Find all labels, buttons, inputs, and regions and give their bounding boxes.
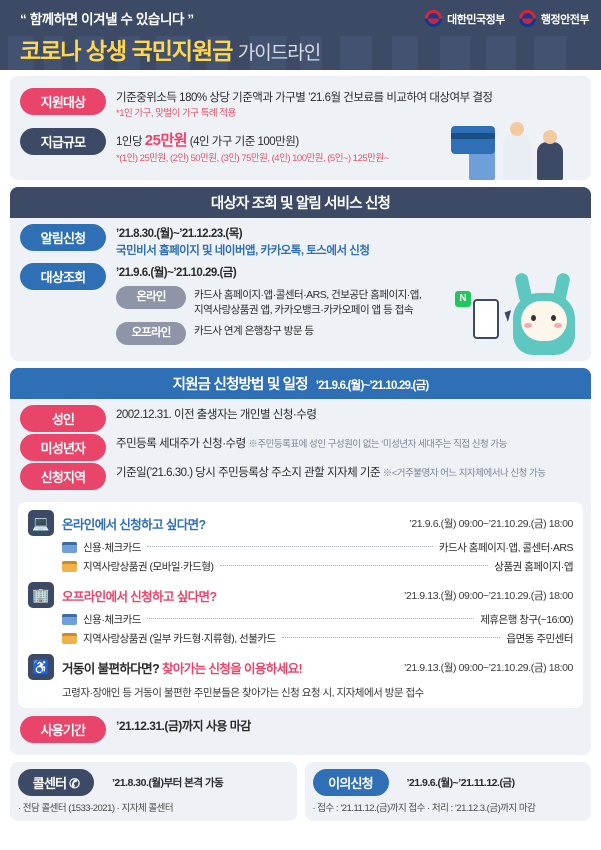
row-target-lookup: 대상조회 ’21.9.6.(월)~’21.10.29.(금) 온라인 카드사 홈… <box>10 261 591 351</box>
online-card-value: 카드사 홈페이지·앱, 콜센터·ARS <box>439 540 573 555</box>
section3-band-title: 지원금 신청방법 및 일정’21.9.6.(월)~’21.10.29.(금) <box>10 368 591 399</box>
page-title-main: 코로나 상생 국민지원금 <box>20 38 232 64</box>
poster-page: “ 함께하면 이겨낼 수 있습니다 ” 코로나 상생 국민지원금 가이드라인 대… <box>0 0 601 850</box>
tag-callcenter: 콜센터 ✆ <box>18 769 94 796</box>
section2-band-title: 대상자 조회 및 알림 서비스 신청 <box>10 187 591 218</box>
naver-icon: N <box>455 291 471 307</box>
row-minor: 미성년자 주민등록 세대주가 신청·수령 ※주민등록표에 성인 구성원이 없는 … <box>10 433 591 462</box>
offline-card-label: 신용·체크카드 <box>83 612 141 627</box>
method-offline-date: ’21.9.13.(월) 09:00~’21.10.29.(금) 18:00 <box>404 588 573 603</box>
offline-line-card: 신용·체크카드 제휴은행 창구(~16:00) <box>28 610 573 629</box>
footer-callcenter: 콜센터 ✆ ’21.8.30.(월)부터 본격 가동 · 전담 콜센터 (153… <box>10 762 297 821</box>
section-apply-method: 지원금 신청방법 및 일정’21.9.6.(월)~’21.10.29.(금) 성… <box>10 368 591 755</box>
dot-leader-4 <box>282 637 501 638</box>
poster-footer: 콜센터 ✆ ’21.8.30.(월)부터 본격 가동 · 전담 콜센터 (153… <box>0 762 601 829</box>
dot-leader <box>147 546 433 547</box>
tag-online: 온라인 <box>116 286 186 309</box>
online-card-label: 신용·체크카드 <box>83 540 141 555</box>
tag-objection: 이의신청 <box>313 769 389 796</box>
method-offline-header: 🏢 오프라인에서 신청하고 싶다면? ’21.9.13.(월) 09:00~’2… <box>28 582 573 608</box>
online-text: 카드사 홈페이지·앱·콜센터·ARS, 건보공단 홈페이지·앱, 지역사랑상품권… <box>194 286 421 318</box>
adult-text: 2002.12.31. 이전 출생자는 개인별 신청·수령 <box>116 405 581 424</box>
callcenter-head: 콜센터 ✆ ’21.8.30.(월)부터 본격 가동 <box>18 769 289 796</box>
methods-card: 💻 온라인에서 신청하고 싶다면? ’21.9.6.(월) 09:00~’21.… <box>18 502 583 708</box>
callcenter-date: ’21.8.30.(월)부터 본격 가동 <box>112 775 223 790</box>
section-lookup-notify: 대상자 조회 및 알림 서비스 신청 알림신청 ’21.8.30.(월)~’21… <box>10 187 591 361</box>
online-line-card: 신용·체크카드 카드사 홈페이지·앱, 콜센터·ARS <box>28 538 573 557</box>
row-region: 신청지역 기준일(’21.6.30.) 당시 주민등록상 주소지 관할 지자체 … <box>10 462 591 496</box>
page-title: 코로나 상생 국민지원금 가이드라인 <box>14 32 587 66</box>
method-visit-title-pre: 거동이 불편하다면? <box>62 662 162 676</box>
payment-amount: 25만원 <box>145 132 187 149</box>
region-note: ※<거주불명자 어느 지자체에서나 신청 가능 <box>383 468 546 479</box>
section3-band-label: 지원금 신청방법 및 일정 <box>173 377 308 393</box>
method-visit-date: ’21.9.13.(월) 09:00~’21.10.29.(금) 18:00 <box>404 660 573 675</box>
taegeuk-icon <box>425 10 442 27</box>
page-title-sub: 가이드라인 <box>238 43 320 64</box>
tag-offline: 오프라인 <box>116 322 186 345</box>
offline-card-value: 제휴은행 창구(~16:00) <box>480 612 573 627</box>
tag-adult: 성인 <box>20 405 106 432</box>
logo-label-1: 대한민국정부 <box>447 11 505 27</box>
card-icon-2 <box>62 614 77 625</box>
dot-leader-3 <box>147 618 474 619</box>
minor-note: ※주민등록표에 성인 구성원이 없는 ‘미성년자 세대주는 직접 신청 가능 <box>248 439 506 450</box>
poster-header: “ 함께하면 이겨낼 수 있습니다 ” 코로나 상생 국민지원금 가이드라인 대… <box>0 0 601 70</box>
offline-voucher-value: 읍면동 주민센터 <box>506 631 573 646</box>
method-visit-desc: 고령자·장애인 등 거동이 불편한 주민분들은 찾아가는 신청 요청 시, 지자… <box>28 682 573 700</box>
method-online-header: 💻 온라인에서 신청하고 싶다면? ’21.9.6.(월) 09:00~’21.… <box>28 510 573 536</box>
row-adult: 성인 2002.12.31. 이전 출생자는 개인별 신청·수령 <box>10 399 591 433</box>
tag-notify-apply: 알림신청 <box>20 224 106 251</box>
payment-pre: 1인당 <box>116 136 145 148</box>
method-visit-title-main: 찾아가는 신청을 이용하세요! <box>162 662 302 676</box>
objection-head: 이의신청 ’21.9.6.(월)~’21.11.12.(금) <box>313 769 584 796</box>
tag-minor: 미성년자 <box>20 434 106 461</box>
method-visit-header: ♿ 거동이 불편하다면? 찾아가는 신청을 이용하세요! ’21.9.13.(월… <box>28 654 573 680</box>
minor-text: 주민등록 세대주가 신청·수령 <box>116 438 246 450</box>
logo-korean-government: 대한민국정부 <box>425 10 505 27</box>
phone-illustration <box>473 299 499 339</box>
card-illustration <box>451 126 495 154</box>
phone-icon: ✆ <box>69 776 79 791</box>
mascot-illustration <box>507 271 581 357</box>
method-visit-title: 거동이 불편하다면? 찾아가는 신청을 이용하세요! <box>62 658 302 677</box>
support-target-text: 기준중위소득 180% 상당 기준액과 가구별 ’21.6월 건보료를 비교하여… <box>116 90 581 107</box>
laptop-icon: 💻 <box>28 510 54 536</box>
dot-leader-2 <box>220 565 489 566</box>
usage-period-text: ’21.12.31.(금)까지 사용 마감 <box>116 716 581 735</box>
objection-date: ’21.9.6.(월)~’21.11.12.(금) <box>407 775 515 790</box>
support-target-body: 기준중위소득 180% 상당 기준액과 가구별 ’21.6월 건보료를 비교하여… <box>116 88 581 120</box>
tag-target-lookup: 대상조회 <box>20 263 106 290</box>
notify-apply-date: ’21.8.30.(월)~’21.12.23.(목) <box>116 226 581 243</box>
online-voucher-value: 상품권 홈페이지·앱 <box>494 559 573 574</box>
callcenter-detail: · 전담 콜센터 (1533-2021) · 지자체 콜센터 <box>18 800 289 814</box>
offline-line-voucher: 지역사랑상품권 (일부 카드형·지류형), 선불카드 읍면동 주민센터 <box>28 629 573 648</box>
region-body: 기준일(’21.6.30.) 당시 주민등록상 주소지 관할 지자체 기준 ※<… <box>116 463 581 482</box>
objection-detail: · 접수 : ’21.11.12.(금)까지 접수 · 처리 : ’21.12.… <box>313 800 584 814</box>
logo-label-2: 행정안전부 <box>541 11 589 27</box>
offline-text: 카드사 연계 은행창구 방문 등 <box>194 322 314 339</box>
tag-region: 신청지역 <box>20 463 106 490</box>
voucher-icon <box>62 561 77 572</box>
card-icon <box>62 542 77 553</box>
method-online-date: ’21.9.6.(월) 09:00~’21.10.29.(금) 18:00 <box>409 516 573 531</box>
footer-objection: 이의신청 ’21.9.6.(월)~’21.11.12.(금) · 접수 : ’2… <box>305 762 592 821</box>
region-text: 기준일(’21.6.30.) 당시 주민등록상 주소지 관할 지자체 기준 <box>116 467 380 479</box>
tag-payment-scale: 지급규모 <box>20 128 106 155</box>
notify-apply-body: ’21.8.30.(월)~’21.12.23.(목) 국민비서 홈페이지 및 네… <box>116 224 581 259</box>
row-notify-apply: 알림신청 ’21.8.30.(월)~’21.12.23.(목) 국민비서 홈페이… <box>10 218 591 261</box>
logo-mois: 행정안전부 <box>519 10 589 27</box>
notify-apply-text: 국민비서 홈페이지 및 네이버앱, 카카오톡, 토스에서 신청 <box>116 243 581 260</box>
offline-voucher-label: 지역사랑상품권 (일부 카드형·지류형), 선불카드 <box>83 631 276 646</box>
government-logos: 대한민국정부 행정안전부 <box>425 10 589 27</box>
online-line-voucher: 지역사랑상품권 (모바일·카드형) 상품권 홈페이지·앱 <box>28 557 573 576</box>
payment-post: (4인 가구 기준 100만원) <box>187 136 299 148</box>
row-usage-period: 사용기간 ’21.12.31.(금)까지 사용 마감 <box>10 716 591 749</box>
taegeuk-icon-2 <box>519 10 536 27</box>
accessibility-icon: ♿ <box>28 654 54 680</box>
voucher-icon-2 <box>62 633 77 644</box>
tag-usage-period: 사용기간 <box>20 716 106 743</box>
tag-support-target: 지원대상 <box>20 88 106 115</box>
online-voucher-label: 지역사랑상품권 (모바일·카드형) <box>83 559 214 574</box>
building-icon: 🏢 <box>28 582 54 608</box>
section-support-overview: 지원대상 기준중위소득 180% 상당 기준액과 가구별 ’21.6월 건보료를… <box>10 76 591 180</box>
minor-body: 주민등록 세대주가 신청·수령 ※주민등록표에 성인 구성원이 없는 ‘미성년자… <box>116 434 581 453</box>
section3-band-date: ’21.9.6.(월)~’21.10.29.(금) <box>316 380 429 392</box>
method-offline-title: 오프라인에서 신청하고 싶다면? <box>62 586 216 605</box>
method-online-title: 온라인에서 신청하고 싶다면? <box>62 514 206 533</box>
